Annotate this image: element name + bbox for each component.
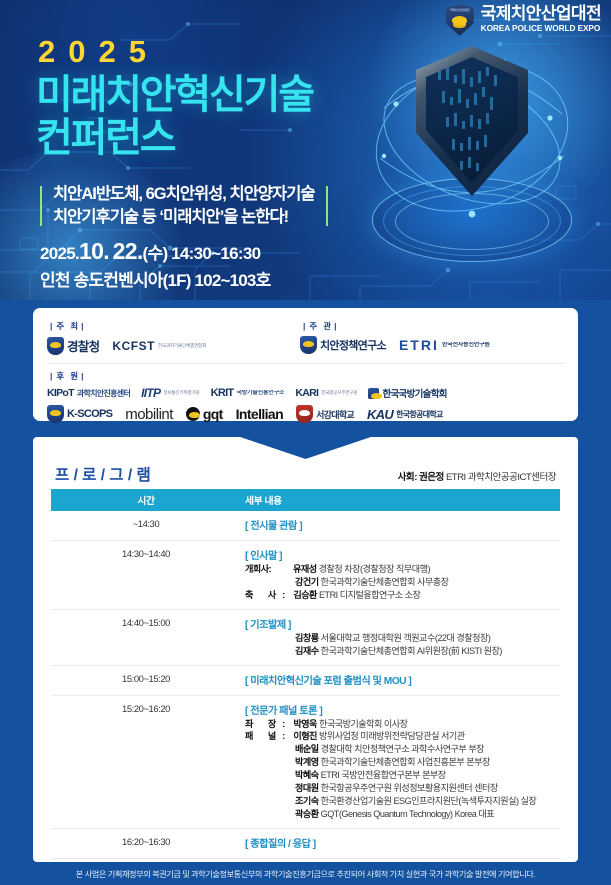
program-table-body: ~14:30[ 전시물 관람 ]14:30~14:40[ 인사말 ]개회사: 유… (51, 511, 560, 859)
moderator-affiliation: ETRI 과학치안공공ICT센터장 (446, 472, 556, 483)
organizer-column: 주 관 치안정책연구소 ETRI 한국전자통신연구원 (300, 316, 564, 360)
logo-label: IITP (141, 386, 160, 400)
speaker-role: 개회사: (245, 563, 291, 576)
program-speaker-line: 축 사: 김승환 ETRI 디지털융합연구소 소장 (245, 589, 560, 602)
society-mark-icon (368, 388, 379, 399)
program-table-header: 시간 세부 내용 (51, 489, 560, 511)
expo-logo-english: KOREA POLICE WORLD EXPO (481, 22, 601, 34)
logo-sublabel: 과학치안진흥센터 (77, 388, 130, 399)
sponsor-divider (47, 363, 564, 364)
speaker-affiliation: 서울대학교 행정대학원 객원교수(22대 경찰청장) (321, 633, 491, 643)
program-session-title: [ 기조발제 ] (245, 616, 560, 631)
program-row-detail: [ 기조발제 ]김창룡 서울대학교 행정대학원 객원교수(22대 경찰청장)김재… (241, 616, 560, 658)
program-row-time: 16:20~16:30 (51, 835, 241, 851)
organizer-logos: 치안정책연구소 ETRI 한국전자통신연구원 (300, 336, 564, 354)
title-line-2: 컨퍼런스 (36, 117, 313, 160)
program-speaker-line: 박혜숙 ETRI 국방안전융합연구본부 본부장 (245, 769, 560, 782)
logo-etri: ETRI 한국전자통신연구원 (399, 337, 490, 353)
program-row: 14:30~14:40[ 인사말 ]개회사: 유재성 경찰청 차장(경찰청장 직… (51, 541, 560, 610)
supporter-logos-row-2: K-SCOPS mobilint gqt Intellian 서강대학교 K (47, 405, 564, 423)
program-session-title: [ 미래치안혁신기술 포럼 출범식 및 MOU ] (245, 672, 560, 687)
speaker-role: 축 사: (245, 589, 291, 602)
supporter-column: 후 원 KIPoT 과학치안진흥센터 IITP 정보통신기획평가원 KRIT 국… (47, 366, 564, 423)
logo-label: K-SCOPS (67, 408, 112, 420)
speaker-affiliation: 한국과학기술단체총연합회 사업진흥본부 본부장 (321, 757, 490, 767)
footer-note: 본 사업은 기획재정부의 복권기금 및 과학기술정보통신부의 과학기술진흥기금으… (0, 862, 611, 885)
shield-graphic (354, 28, 589, 278)
program-speaker-line: 강건기 한국과학기술단체총연합회 사무총장 (245, 576, 560, 589)
logo-gqt: gqt (186, 406, 223, 422)
speaker-affiliation: ETRI 디지털융합연구소 소장 (319, 590, 420, 600)
program-speaker-line: 개회사: 유재성 경찰청 차장(경찰청장 직무대행) (245, 563, 560, 576)
logo-label: KAU (367, 407, 393, 422)
date-weekday: (수) (143, 244, 168, 263)
speaker-name: 배순일 (295, 744, 319, 754)
subtitle-line-1: 치안AI반도체, 6G치안위성, 치안양자기술 (53, 183, 315, 206)
program-speaker-line: 곽승환 GQT(Genesis Quantum Technology) Kore… (245, 808, 560, 821)
speaker-name: 김창룡 (295, 633, 319, 643)
expo-logo: 국제치안산업대전 국제치안산업대전 KOREA POLICE WORLD EXP… (446, 4, 601, 36)
logo-label: ETRI (399, 337, 439, 353)
logo-label: mobilint (125, 406, 173, 423)
logo-iitp: IITP 정보통신기획평가원 (141, 386, 199, 400)
logo-label: KRIT (211, 387, 234, 399)
title-line-1: 미래치안혁신기술 (36, 74, 313, 117)
date-time: 14:30~16:30 (171, 244, 260, 263)
column-header-description: 세부 내용 (241, 489, 560, 511)
speaker-name: 조기숙 (295, 796, 319, 806)
program-row: 15:20~16:20[ 전문가 패널 토론 ]좌 장: 박영욱 한국국방기술학… (51, 696, 560, 829)
speaker-name: 유재성 (293, 564, 317, 574)
hero-banner: 국제치안산업대전 국제치안산업대전 KOREA POLICE WORLD EXP… (0, 0, 611, 300)
logo-label: Intellian (236, 406, 284, 422)
speaker-affiliation: ETRI 국방안전융합연구본부 본부장 (321, 770, 446, 780)
program-row-detail: [ 인사말 ]개회사: 유재성 경찰청 차장(경찰청장 직무대행)강건기 한국과… (241, 547, 560, 602)
logo-label: 경찰청 (67, 336, 99, 355)
program-row-detail: [ 종합질의 / 응답 ] (241, 835, 560, 851)
speaker-affiliation: 경찰대학 치안정책연구소 과학수사연구부 부장 (321, 744, 484, 754)
logo-krit: KRIT 국방기술진흥연구소 (211, 387, 285, 399)
logo-sublabel: 국방기술진흥연구소 (236, 390, 284, 397)
program-speaker-line: 김재수 한국과학기술단체총연합회 AI위원장(前 KISTI 원장) (245, 645, 560, 658)
program-speaker-line: 패 널: 이형진 방위사업청 미래방위전략담당관실 서기관 (245, 730, 560, 743)
gqt-mark-icon (186, 407, 200, 421)
moderator-info: 사회: 권은정 ETRI 과학치안공공ICT센터장 (398, 469, 556, 485)
speaker-name: 박영욱 (293, 719, 317, 729)
police-emblem-icon: 국제치안산업대전 (446, 4, 474, 36)
logo-label: gqt (203, 406, 223, 422)
program-row-time: 15:20~16:20 (51, 702, 241, 821)
date-day: 22. (113, 238, 143, 264)
logo-kdts: 한국국방기술학회 (368, 386, 446, 400)
moderator-name: 권은정 (419, 472, 444, 483)
speaker-name: 곽승환 (295, 809, 319, 819)
program-row-detail: [ 미래치안혁신기술 포럼 출범식 및 MOU ] (241, 672, 560, 688)
event-venue: 인천 송도컨벤시아(1F) 102~103호 (40, 266, 270, 291)
speaker-affiliation: 경찰청 차장(경찰청장 직무대행) (319, 564, 430, 574)
logo-label: 치안정책연구소 (320, 337, 386, 353)
program-session-title: [ 전문가 패널 토론 ] (245, 702, 560, 717)
expo-badge-caption: 국제치안산업대전 (449, 7, 471, 13)
speaker-affiliation: GQT(Genesis Quantum Technology) Korea 대표 (321, 809, 494, 819)
logo-kari: KARI 한국항공우주연구원 (295, 387, 357, 399)
date-year: 2025. (40, 244, 79, 263)
program-speaker-line: 김창룡 서울대학교 행정대학원 객원교수(22대 경찰청장) (245, 632, 560, 645)
host-logos: 경찰청 KCFST 한국과학기술단체총연합회 (47, 336, 300, 355)
logo-sublabel: 정보통신기획평가원 (163, 390, 199, 395)
logo-sublabel: 한국과학기술단체총연합회 (158, 343, 206, 348)
speaker-name: 김재수 (295, 646, 319, 656)
logo-sogang-university: 서강대학교 (296, 405, 354, 423)
logo-mobilint: mobilint (125, 406, 173, 423)
organizer-label: 주 관 (300, 320, 341, 332)
host-label: 주 최 (47, 320, 88, 332)
sponsor-card: 주 최 경찰청 KCFST 한국과학기술단체총연합회 주 관 (33, 308, 578, 421)
program-speaker-line: 좌 장: 박영욱 한국국방기술학회 이사장 (245, 718, 560, 731)
program-speaker-line: 조기숙 한국환경산업기술원 ESG인프라지원단(녹색투자지원실) 실장 (245, 795, 560, 808)
logo-label: 서강대학교 (316, 408, 354, 421)
conference-poster: 국제치안산업대전 국제치안산업대전 KOREA POLICE WORLD EXP… (0, 0, 611, 885)
program-session-title: [ 전시물 관람 ] (245, 517, 560, 532)
program-row-time: 15:00~15:20 (51, 672, 241, 688)
program-row: ~14:30[ 전시물 관람 ] (51, 511, 560, 541)
program-speaker-line: 배순일 경찰대학 치안정책연구소 과학수사연구부 부장 (245, 743, 560, 756)
moderator-label: 사회: (398, 472, 417, 483)
logo-label: 한국국방기술학회 (382, 386, 446, 400)
supporter-logos-row-1: KIPoT 과학치안진흥센터 IITP 정보통신기획평가원 KRIT 국방기술진… (47, 386, 564, 400)
subtitle-line-2: 치안기후기술 등 ‘미래치안’을 논한다! (53, 206, 315, 229)
program-speaker-line: 정대원 한국항공우주연구원 위성정보활용지원센터 센터장 (245, 782, 560, 795)
kscops-emblem-icon (47, 405, 64, 423)
speaker-role: 좌 장: (245, 718, 291, 731)
host-column: 주 최 경찰청 KCFST 한국과학기술단체총연합회 (47, 316, 300, 360)
logo-sublabel: 한국전자통신연구원 (442, 342, 490, 349)
logo-kscops: K-SCOPS (47, 405, 112, 423)
logo-label: KARI (295, 387, 318, 399)
event-date: 2025.10. 22.(수) 14:30~16:30 (40, 238, 260, 265)
sogang-crest-icon (296, 405, 313, 423)
program-row-time: ~14:30 (51, 517, 241, 533)
program-row-time: 14:40~15:00 (51, 616, 241, 658)
program-row-time: 14:30~14:40 (51, 547, 241, 602)
supporter-label: 후 원 (47, 370, 88, 382)
event-year: 2025 (38, 36, 159, 67)
expo-logo-korean: 국제치안산업대전 (481, 5, 601, 22)
program-row: 16:20~16:30[ 종합질의 / 응답 ] (51, 829, 560, 859)
speaker-name: 박혜숙 (295, 770, 319, 780)
program-session-title: [ 종합질의 / 응답 ] (245, 835, 560, 850)
logo-intellian: Intellian (236, 406, 284, 422)
program-title: 프 / 로 / 그 / 램 (55, 463, 151, 485)
program-session-title: [ 인사말 ] (245, 547, 560, 562)
speaker-affiliation: 방위사업청 미래방위전략담당관실 서기관 (319, 731, 465, 741)
page-title: 미래치안혁신기술 컨퍼런스 (36, 74, 313, 160)
logo-label: KIPoT (47, 387, 74, 399)
speaker-affiliation: 한국환경산업기술원 ESG인프라지원단(녹색투자지원실) 실장 (321, 796, 537, 806)
speaker-affiliation: 한국과학기술단체총연합회 사무총장 (321, 577, 449, 587)
speaker-role: 패 널: (245, 730, 291, 743)
speaker-name: 강건기 (295, 577, 319, 587)
logo-kipot: KIPoT 과학치안진흥센터 (47, 387, 130, 399)
speaker-name: 정대원 (295, 783, 319, 793)
program-row: 14:40~15:00[ 기조발제 ]김창룡 서울대학교 행정대학원 객원교수(… (51, 610, 560, 666)
logo-korea-aerospace-university: KAU 한국항공대학교 (367, 407, 443, 422)
column-header-time: 시간 (51, 489, 241, 511)
program-card: 프 / 로 / 그 / 램 사회: 권은정 ETRI 과학치안공공ICT센터장 … (33, 437, 578, 862)
program-row-detail: [ 전문가 패널 토론 ]좌 장: 박영욱 한국국방기술학회 이사장패 널: 이… (241, 702, 560, 821)
logo-police-science-institute: 치안정책연구소 (300, 336, 386, 354)
logo-sublabel: 한국항공대학교 (396, 409, 443, 420)
speaker-affiliation: 한국과학기술단체총연합회 AI위원장(前 KISTI 원장) (321, 646, 502, 656)
logo-sublabel: 한국항공우주연구원 (321, 390, 357, 395)
footer-text: 본 사업은 기획재정부의 복권기금 및 과학기술정보통신부의 과학기술진흥기금으… (76, 868, 535, 880)
program-row: 15:00~15:20[ 미래치안혁신기술 포럼 출범식 및 MOU ] (51, 666, 560, 696)
logo-kofst: KCFST 한국과학기술단체총연합회 (112, 339, 206, 353)
date-month: 10. (79, 238, 109, 264)
speaker-name: 이형진 (293, 731, 317, 741)
subtitle: 치안AI반도체, 6G치안위성, 치안양자기술 치안기후기술 등 ‘미래치안’을… (40, 183, 328, 229)
institute-emblem-icon (300, 336, 317, 354)
speaker-affiliation: 한국국방기술학회 이사장 (319, 719, 408, 729)
logo-label: KCFST (112, 339, 155, 353)
speaker-affiliation: 한국항공우주연구원 위성정보활용지원센터 센터장 (321, 783, 498, 793)
police-emblem-icon (47, 337, 64, 355)
logo-police-agency: 경찰청 (47, 336, 99, 355)
speaker-name: 박계영 (295, 757, 319, 767)
program-row-detail: [ 전시물 관람 ] (241, 517, 560, 533)
program-speaker-line: 박계영 한국과학기술단체총연합회 사업진흥본부 본부장 (245, 756, 560, 769)
speaker-name: 김승환 (293, 590, 317, 600)
